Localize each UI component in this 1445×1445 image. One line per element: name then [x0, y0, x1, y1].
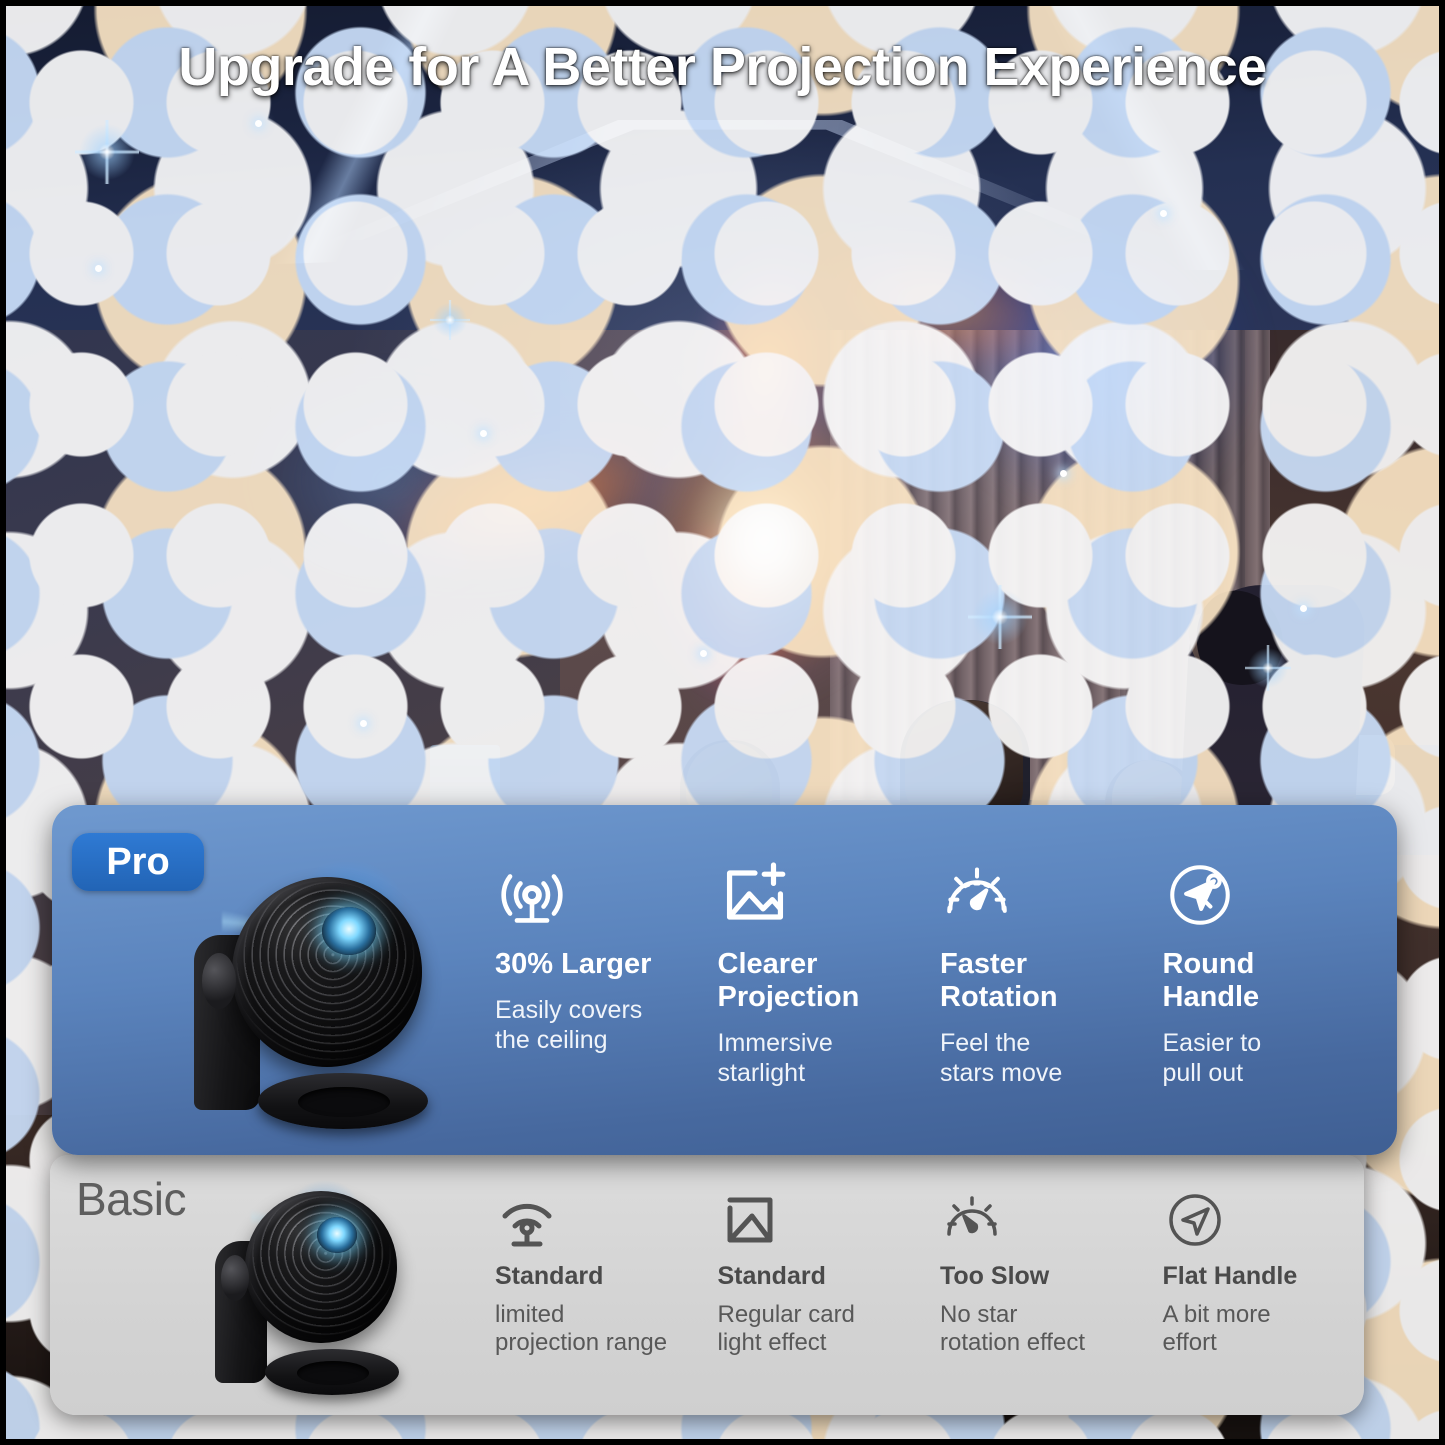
projector-side-knob — [221, 1255, 249, 1301]
pro-feature-1: ClearerProjection Immersivestarlight — [718, 858, 941, 1088]
star-flare — [1245, 645, 1291, 691]
basic-feature-1: Standard Regular cardlight effect — [718, 1188, 941, 1358]
basic-label: Basic — [76, 1172, 186, 1226]
basic-feature-0-desc: limitedprojection range — [495, 1301, 718, 1359]
infographic-stage: Upgrade for A Better Projection Experien… — [0, 0, 1445, 1445]
star-point — [95, 265, 102, 272]
projector-lens — [322, 907, 376, 955]
pro-feature-3-desc: Easier topull out — [1163, 1028, 1386, 1088]
slow-speedometer-icon — [940, 1188, 1163, 1258]
basic-feature-2: Too Slow No starrotation effect — [940, 1188, 1163, 1358]
basic-feature-3: Flat Handle A bit moreeffort — [1163, 1188, 1386, 1358]
basic-feature-0: Standard limitedprojection range — [495, 1188, 718, 1358]
basic-product-image — [205, 1175, 395, 1405]
pro-feature-2: FasterRotation Feel thestars move — [940, 858, 1163, 1088]
circled-flat-cursor-icon — [1163, 1188, 1386, 1258]
person-woman-hair — [905, 700, 1023, 820]
projector-side-knob — [202, 953, 236, 1009]
pro-feature-1-desc: Immersivestarlight — [718, 1028, 941, 1088]
projector-lens — [317, 1217, 357, 1253]
pro-feature-0: 30% Larger Easily coversthe ceiling — [495, 858, 718, 1088]
basic-feature-3-title: Flat Handle — [1163, 1262, 1386, 1291]
basic-feature-2-title: Too Slow — [940, 1262, 1163, 1291]
star-flare — [75, 120, 139, 184]
circled-cursor-icon — [1163, 858, 1386, 936]
pro-product-image — [180, 855, 420, 1140]
pro-feature-0-desc: Easily coversthe ceiling — [495, 995, 718, 1055]
basic-feature-2-desc: No starrotation effect — [940, 1301, 1163, 1359]
projector-base-hole — [297, 1361, 369, 1385]
star-point — [1300, 605, 1307, 612]
star-point — [1060, 470, 1067, 477]
broken-image-icon — [718, 1188, 941, 1258]
pro-feature-list: 30% Larger Easily coversthe ceiling Clea… — [495, 858, 1385, 1088]
star-point — [360, 720, 367, 727]
speedometer-icon — [940, 858, 1163, 936]
star-flare — [968, 585, 1032, 649]
pro-feature-1-title: ClearerProjection — [718, 948, 941, 1014]
basic-feature-1-desc: Regular cardlight effect — [718, 1301, 941, 1359]
star-point — [700, 650, 707, 657]
pro-feature-0-title: 30% Larger — [495, 948, 718, 981]
basic-feature-list: Standard limitedprojection range Standar… — [495, 1188, 1385, 1358]
projector-base-hole — [298, 1087, 390, 1117]
basic-feature-0-title: Standard — [495, 1262, 718, 1291]
star-point — [480, 430, 487, 437]
star-point — [255, 120, 262, 127]
broadcast-signal-icon — [495, 858, 718, 936]
star-flare — [430, 300, 470, 340]
star-point — [1160, 210, 1167, 217]
pro-feature-3-title: RoundHandle — [1163, 948, 1386, 1014]
pro-badge-label: Pro — [106, 841, 169, 884]
pro-feature-3: RoundHandle Easier topull out — [1163, 858, 1386, 1088]
basic-feature-1-title: Standard — [718, 1262, 941, 1291]
basic-feature-3-desc: A bit moreeffort — [1163, 1301, 1386, 1359]
page-title: Upgrade for A Better Projection Experien… — [0, 36, 1445, 98]
pro-feature-2-desc: Feel thestars move — [940, 1028, 1163, 1088]
weak-signal-icon — [495, 1188, 718, 1258]
pro-feature-2-title: FasterRotation — [940, 948, 1163, 1014]
add-image-icon — [718, 858, 941, 936]
